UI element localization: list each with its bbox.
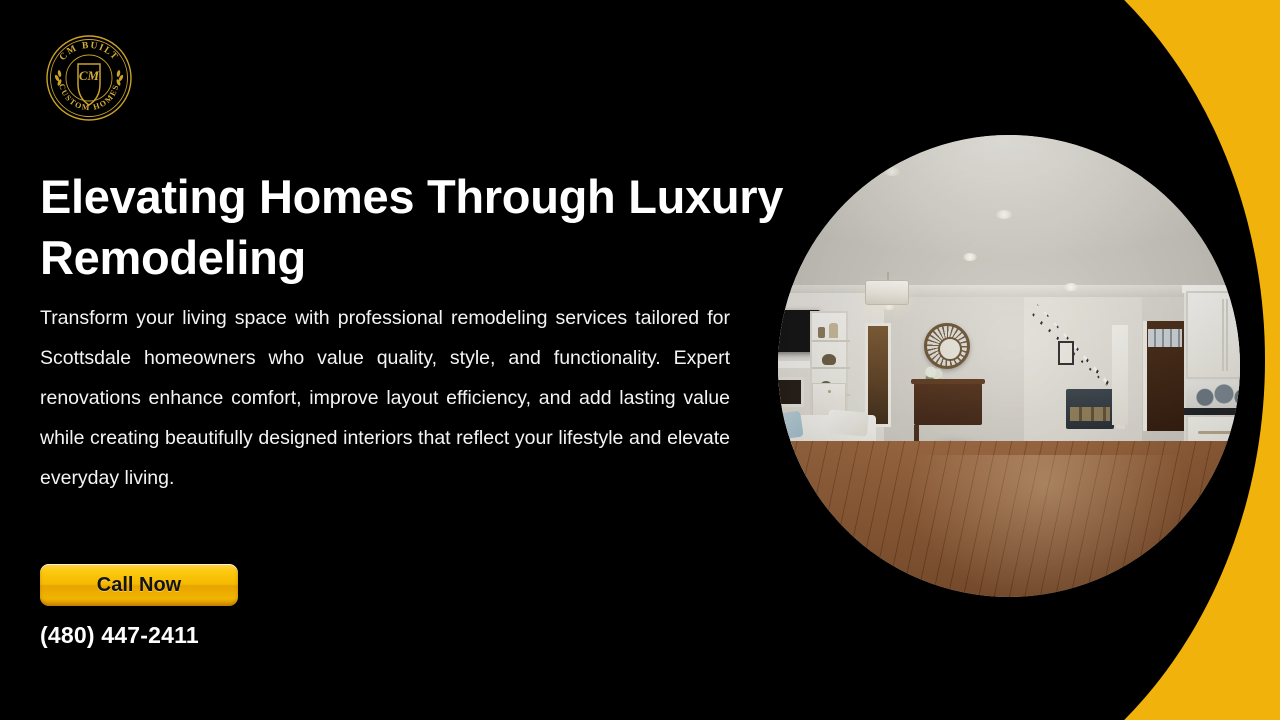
photo-vignette	[778, 135, 1240, 597]
svg-text:CM: CM	[79, 68, 100, 83]
hero-photo-ring	[768, 126, 1252, 610]
cm-built-emblem-icon: CM CM BUILT CUSTOM HOMES	[39, 28, 139, 128]
hero-photo	[778, 135, 1240, 597]
svg-text:CM BUILT: CM BUILT	[58, 41, 120, 63]
call-now-button[interactable]: Call Now	[40, 564, 238, 606]
promo-banner: CM CM BUILT CUSTOM HOMES Elevating Homes…	[0, 0, 1280, 720]
phone-number[interactable]: (480) 447-2411	[40, 622, 199, 649]
brand-logo[interactable]: CM CM BUILT CUSTOM HOMES	[39, 28, 139, 128]
interior-photo-scene	[778, 135, 1240, 597]
page-title: Elevating Homes Through Luxury Remodelin…	[40, 166, 830, 288]
svg-text:CUSTOM HOMES: CUSTOM HOMES	[57, 83, 121, 113]
hero-description: Transform your living space with profess…	[40, 298, 730, 498]
hero-content: CM CM BUILT CUSTOM HOMES Elevating Homes…	[40, 0, 740, 720]
